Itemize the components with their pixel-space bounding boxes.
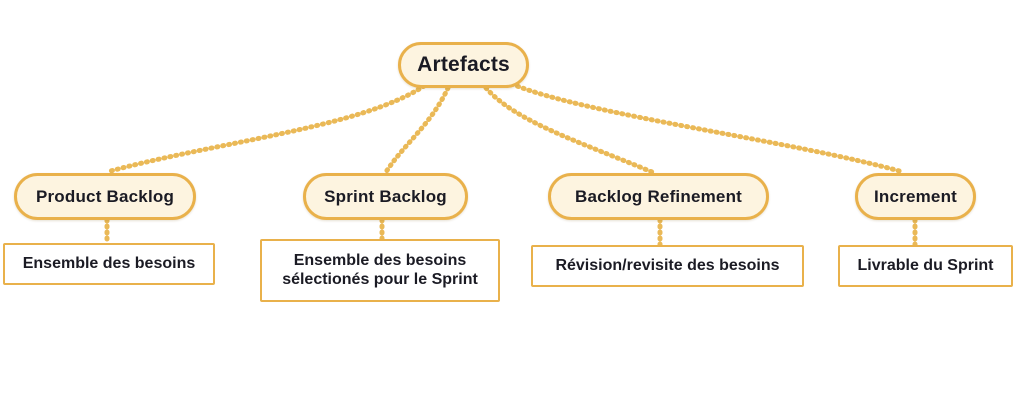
- leaf-node-label: Ensemble des besoins: [23, 255, 196, 274]
- leaf-node-backlog-refinement-description[interactable]: Révision/revisite des besoins: [531, 245, 804, 287]
- branch-node-label: Increment: [874, 187, 957, 207]
- branch-node-label: Product Backlog: [36, 187, 174, 207]
- leaf-node-increment-description[interactable]: Livrable du Sprint: [838, 245, 1013, 287]
- branch-node-sprint-backlog[interactable]: Sprint Backlog: [303, 173, 468, 220]
- leaf-node-label-line2: sélectionés pour le Sprint: [282, 271, 478, 290]
- connector-root-to-sprint-backlog: [386, 88, 448, 172]
- branch-node-label: Sprint Backlog: [324, 187, 447, 207]
- leaf-node-sprint-backlog-description[interactable]: Ensemble des besoins sélectionés pour le…: [260, 239, 500, 302]
- branch-node-product-backlog[interactable]: Product Backlog: [14, 173, 196, 220]
- branch-node-increment[interactable]: Increment: [855, 173, 976, 220]
- connector-root-to-product-backlog: [107, 86, 424, 172]
- leaf-node-label: Livrable du Sprint: [857, 257, 993, 276]
- connector-root-to-backlog-refinement: [486, 88, 652, 172]
- mind-map-diagram: Artefacts Product Backlog Ensemble des b…: [0, 0, 1024, 409]
- root-node-artefacts[interactable]: Artefacts: [398, 42, 529, 88]
- branch-node-label: Backlog Refinement: [575, 187, 742, 207]
- branch-node-backlog-refinement[interactable]: Backlog Refinement: [548, 173, 769, 220]
- root-node-label: Artefacts: [417, 53, 510, 77]
- leaf-node-product-backlog-description[interactable]: Ensemble des besoins: [3, 243, 215, 285]
- leaf-node-label: Révision/revisite des besoins: [555, 257, 779, 276]
- connector-root-to-increment: [512, 84, 903, 172]
- leaf-node-label-line1: Ensemble des besoins: [294, 252, 467, 271]
